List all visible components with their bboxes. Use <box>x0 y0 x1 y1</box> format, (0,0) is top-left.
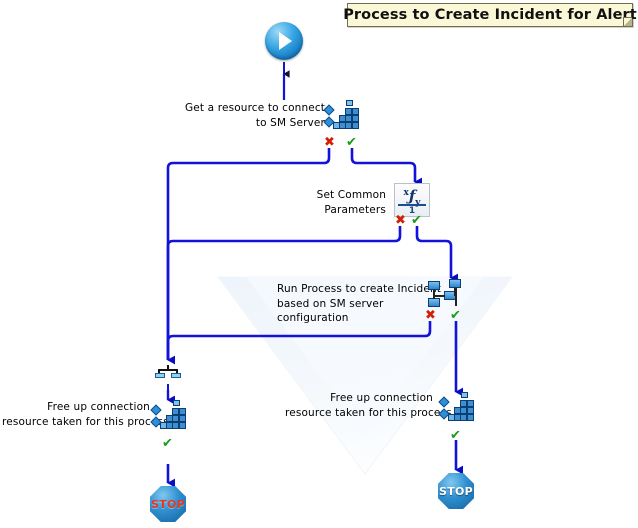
play-circle-icon[interactable] <box>265 22 303 60</box>
edge-setcommon-success <box>417 226 451 278</box>
success-mark-set-common: ✔ <box>411 214 422 227</box>
connector-layer <box>0 0 638 528</box>
success-mark-free-up-right: ✔ <box>450 429 461 442</box>
node-get-resource[interactable] <box>325 100 361 132</box>
stop-right-label: STOP <box>439 485 473 498</box>
node-run-process[interactable] <box>428 279 466 311</box>
stop-octagon-icon[interactable]: STOP <box>150 486 186 522</box>
success-mark-get-resource: ✔ <box>346 136 357 149</box>
formula-icon[interactable]: xƒy 1 <box>394 183 430 217</box>
success-mark-run-process: ✔ <box>450 309 461 322</box>
node-set-common-parameters[interactable]: xƒy 1 <box>394 183 430 217</box>
edge-getresource-fail <box>168 148 329 360</box>
node-stop-right[interactable]: STOP <box>438 473 474 509</box>
node-stop-left[interactable]: STOP <box>150 486 186 522</box>
node-free-up-right[interactable] <box>440 392 476 424</box>
node-label-get-resource: Get a resource to connect to SM Server <box>185 101 325 130</box>
title-fold-corner <box>623 17 632 26</box>
stop-left-label: STOP <box>151 498 185 511</box>
flowchart-icon[interactable] <box>428 279 466 311</box>
node-label-set-common-parameters: Set Common Parameters <box>276 188 386 217</box>
resource-staircase-icon[interactable] <box>325 100 361 132</box>
stop-octagon-icon[interactable]: STOP <box>438 473 474 509</box>
merge-icon[interactable] <box>155 365 181 381</box>
node-label-run-process: Run Process to create Incident based on … <box>277 282 432 326</box>
node-free-up-left[interactable] <box>152 400 188 432</box>
resource-staircase-icon[interactable] <box>152 400 188 432</box>
edge-runprocess-fail <box>168 321 430 360</box>
workflow-canvas: Process to Create Incident for Alert Get… <box>0 0 638 528</box>
node-label-free-up-right: Free up connection resource taken for th… <box>285 391 433 420</box>
fail-mark-set-common: ✖ <box>395 214 406 227</box>
fail-mark-get-resource: ✖ <box>324 136 335 149</box>
success-mark-free-up-left: ✔ <box>162 437 173 450</box>
edge-getresource-success <box>352 148 415 182</box>
page-title: Process to Create Incident for Alert <box>343 7 637 23</box>
resource-staircase-icon[interactable] <box>440 392 476 424</box>
node-merge[interactable] <box>155 365 181 381</box>
node-label-free-up-left: Free up connection resource taken for th… <box>2 400 150 429</box>
node-start[interactable] <box>265 22 303 60</box>
diagram-title-banner: Process to Create Incident for Alert <box>347 3 633 27</box>
fail-mark-run-process: ✖ <box>425 309 436 322</box>
